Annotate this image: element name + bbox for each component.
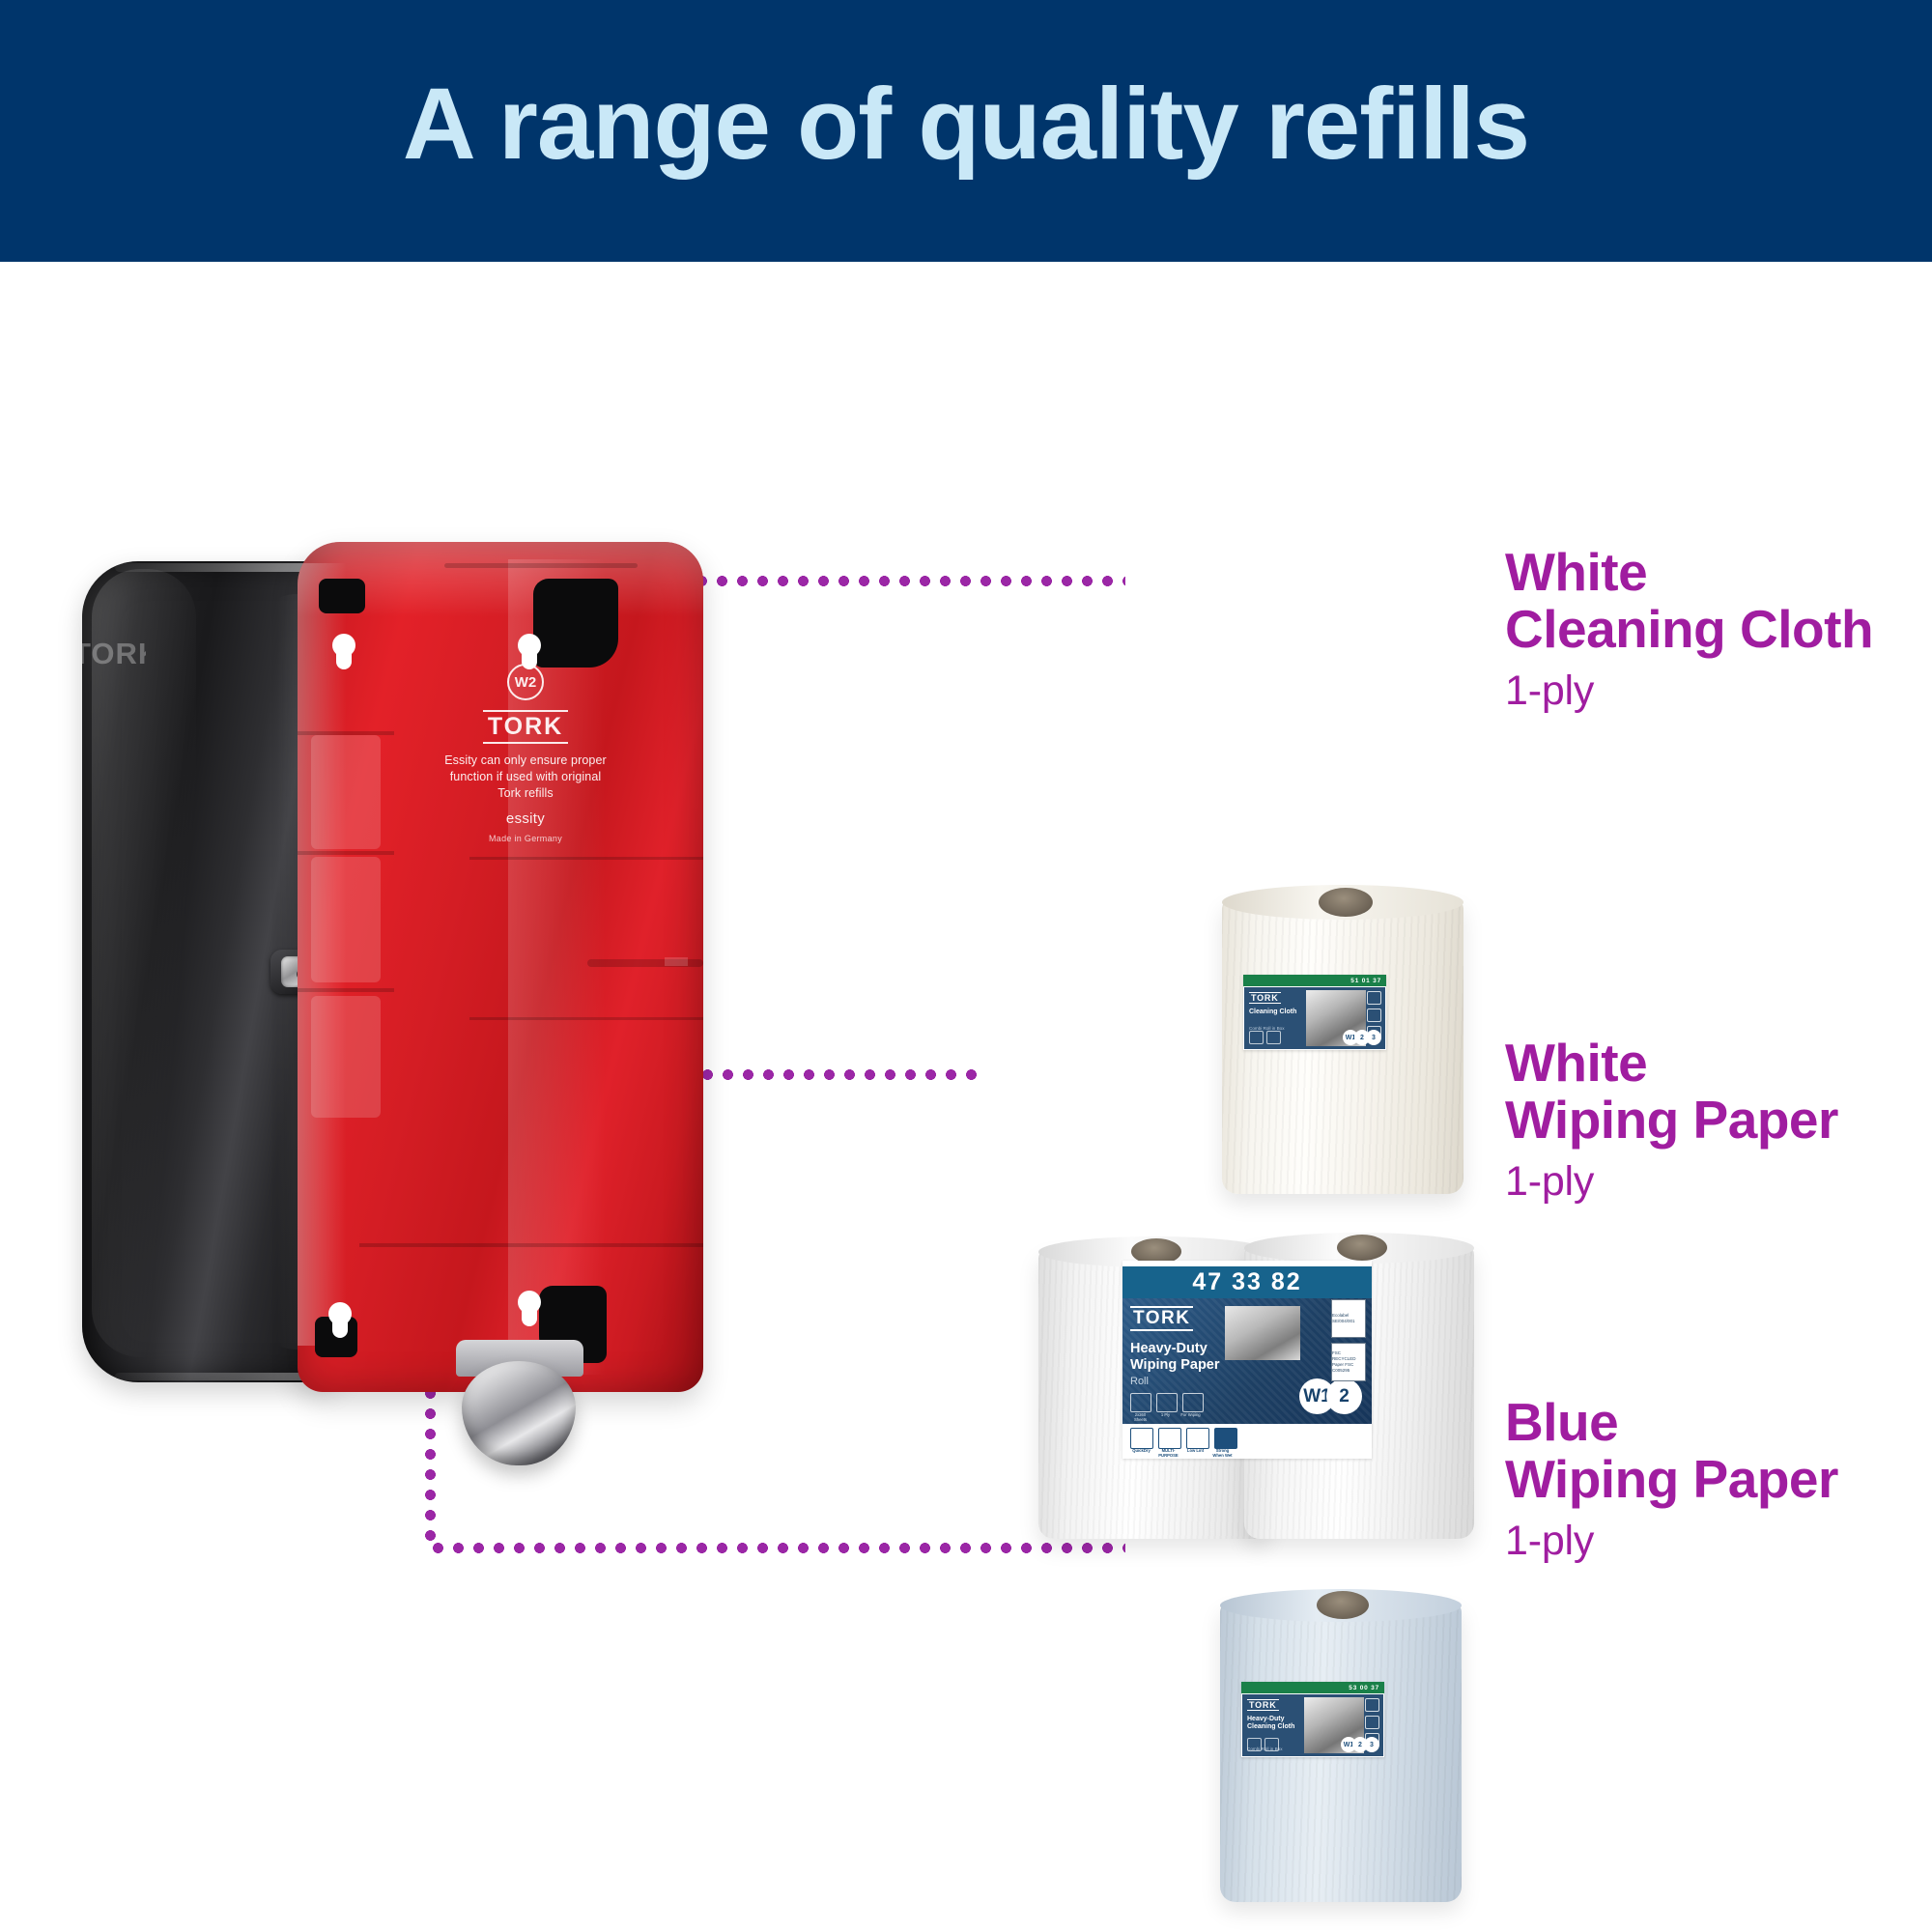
roll-core-icon	[1337, 1235, 1387, 1261]
label-name-line1: Heavy-Duty	[1130, 1341, 1207, 1356]
product-ply: 1-ply	[1505, 1158, 1838, 1206]
label-body: TORK Cleaning Cloth Combi Roll in Box W1…	[1244, 987, 1385, 1049]
body-rib	[469, 857, 703, 860]
body-rib	[444, 563, 638, 568]
label-footer: QuickDry MULTI-PURPOSE Low Lint Strong W…	[1122, 1424, 1372, 1459]
ply-icon	[1156, 1393, 1178, 1412]
tork-logo: TORK	[1247, 1699, 1279, 1711]
spec-icon-label-wiping: For Wiping	[1180, 1412, 1201, 1422]
product-title-line1: White	[1505, 1035, 1838, 1092]
spec-icon-label-sheets: 2x260 Sheets	[1130, 1412, 1151, 1422]
refill-notice: Essity can only ensure proper function i…	[444, 753, 607, 802]
product-label-blue-wiping-paper: 53 00 37 TORK Heavy-Duty Cleaning Cloth …	[1241, 1682, 1384, 1757]
multipurpose-icon	[1158, 1428, 1181, 1449]
tork-dispenser: TORK	[77, 532, 889, 1431]
product-title-line1: White	[1505, 544, 1873, 601]
connector-line-bottom-horizontal	[428, 1543, 1125, 1553]
label-code: 53 00 37	[1349, 1685, 1379, 1691]
body-rib	[298, 988, 394, 992]
sheets-icon	[1130, 1393, 1151, 1412]
page-title: A range of quality refills	[0, 0, 1932, 262]
label-product-name: Heavy-Duty Cleaning Cloth	[1247, 1716, 1294, 1732]
label-system-badges: W1 2 3	[1343, 1030, 1381, 1045]
feature-label-multipurpose: MULTI-PURPOSE	[1157, 1448, 1179, 1458]
lowlint-icon	[1186, 1428, 1209, 1449]
feature-label-lowlint: Low Lint	[1184, 1448, 1207, 1458]
mount-keyhole-bottom	[332, 1305, 348, 1338]
ply-icon	[1367, 1009, 1381, 1022]
quickdry-icon	[1130, 1428, 1153, 1449]
label-product-name: Cleaning Cloth	[1249, 1009, 1296, 1016]
label-feature-icons	[1130, 1428, 1237, 1449]
tork-logo: TORK	[1249, 992, 1281, 1004]
label-body: TORK Heavy-Duty Cleaning Cloth Combi Rol…	[1242, 1694, 1383, 1756]
ply-icon	[1365, 1716, 1379, 1729]
dispenser-body: W2 TORK Essity can only ensure proper fu…	[298, 542, 703, 1392]
product-text-blue-wiping-paper: Blue Wiping Paper 1-ply	[1505, 1394, 1838, 1565]
product-text-white-wiping-paper: White Wiping Paper 1-ply	[1505, 1035, 1838, 1206]
dispenser-panel-print: W2 TORK Essity can only ensure proper fu…	[444, 664, 607, 843]
product-ply: 1-ply	[1505, 1518, 1838, 1565]
system-badge-2: 2	[1326, 1378, 1362, 1414]
header-banner: A range of quality refills	[0, 0, 1932, 262]
product-ply: 1-ply	[1505, 668, 1873, 715]
origin-text: Made in Germany	[444, 834, 607, 843]
label-format: Roll	[1130, 1376, 1149, 1387]
sheet-icon	[1365, 1698, 1379, 1712]
body-rib	[469, 1017, 703, 1020]
fsc-icon: FSC RECYCLED Paper FSC C005295	[1331, 1343, 1366, 1381]
product-title-line2: Wiping Paper	[1505, 1092, 1838, 1149]
body-rib	[311, 735, 381, 849]
diagram-stage: TORK	[0, 262, 1932, 1932]
label-product-name: Heavy-Duty Wiping Paper	[1130, 1341, 1220, 1374]
product-label-white-wiping-paper: 47 33 82 TORK Heavy-Duty Wiping Paper Ro…	[1122, 1261, 1372, 1459]
roll-core-icon	[1319, 888, 1373, 917]
product-title-line1: Blue	[1505, 1394, 1838, 1451]
sheet-icon	[1367, 991, 1381, 1005]
label-feature-icon-labels: QuickDry MULTI-PURPOSE Low Lint Strong W…	[1130, 1448, 1234, 1458]
cover-tork-logo: TORK	[82, 637, 146, 673]
body-rib	[359, 1243, 703, 1247]
label-name-line2: Cleaning Cloth	[1247, 1723, 1294, 1730]
label-system-badges: W1 2	[1299, 1378, 1362, 1414]
body-rib	[311, 857, 381, 982]
product-title-line2: Cleaning Cloth	[1505, 601, 1873, 658]
feature-icon	[1247, 1738, 1262, 1751]
spec-icon-label-ply: 1 Ply	[1155, 1412, 1176, 1422]
label-code-bar: 47 33 82	[1122, 1266, 1372, 1298]
dispenser-knob[interactable]	[462, 1361, 576, 1465]
mount-keyhole-bottomright	[522, 1293, 537, 1326]
w2-system-badge: W2	[507, 664, 544, 700]
label-feature-icons	[1249, 1031, 1281, 1044]
label-code: 47 33 82	[1192, 1268, 1301, 1296]
ecolabel-icon: Ecolabel SE/004/001	[1331, 1299, 1366, 1338]
feature-label-strongwhenwet: Strong When Wet	[1211, 1448, 1234, 1458]
system-badge-3: 3	[1366, 1030, 1381, 1045]
label-code-bar: 51 01 37	[1243, 975, 1386, 986]
label-certifications: Ecolabel SE/004/001 FSC RECYCLED Paper F…	[1331, 1299, 1366, 1381]
feature-icon	[1264, 1738, 1279, 1751]
label-name-line1: Heavy-Duty	[1247, 1716, 1285, 1722]
product-text-white-cleaning-cloth: White Cleaning Cloth 1-ply	[1505, 544, 1873, 715]
feature-icon	[1266, 1031, 1281, 1044]
label-code-bar: 53 00 37	[1241, 1682, 1384, 1693]
label-name-line2: Wiping Paper	[1130, 1357, 1220, 1373]
body-rib	[298, 851, 394, 855]
strongwhenwet-icon	[1214, 1428, 1237, 1449]
tork-logo: TORK	[1130, 1306, 1193, 1331]
feature-icon	[1249, 1031, 1264, 1044]
wiping-icon	[1182, 1393, 1204, 1412]
roll-core-icon	[1317, 1591, 1369, 1619]
label-photo	[1225, 1306, 1300, 1360]
product-title-line2: Wiping Paper	[1505, 1451, 1838, 1508]
feature-label-quickdry: QuickDry	[1130, 1448, 1152, 1458]
body-rib	[665, 957, 688, 966]
body-cutout-topright	[533, 579, 618, 668]
mount-keyhole-top	[336, 637, 352, 669]
label-spec-icon-labels: 2x260 Sheets 1 Ply For Wiping	[1130, 1412, 1201, 1422]
label-code: 51 01 37	[1350, 978, 1381, 984]
system-badge-3: 3	[1364, 1737, 1379, 1752]
body-cutout-topleft	[319, 579, 365, 613]
label-feature-icons	[1247, 1738, 1279, 1751]
product-label-white-cleaning-cloth: 51 01 37 TORK Cleaning Cloth Combi Roll …	[1243, 975, 1386, 1050]
tork-logo: TORK	[483, 710, 568, 744]
essity-logo: essity	[444, 810, 607, 827]
label-spec-icons	[1130, 1393, 1204, 1412]
label-system-badges: W1 2 3	[1341, 1737, 1379, 1752]
body-rib	[311, 996, 381, 1118]
